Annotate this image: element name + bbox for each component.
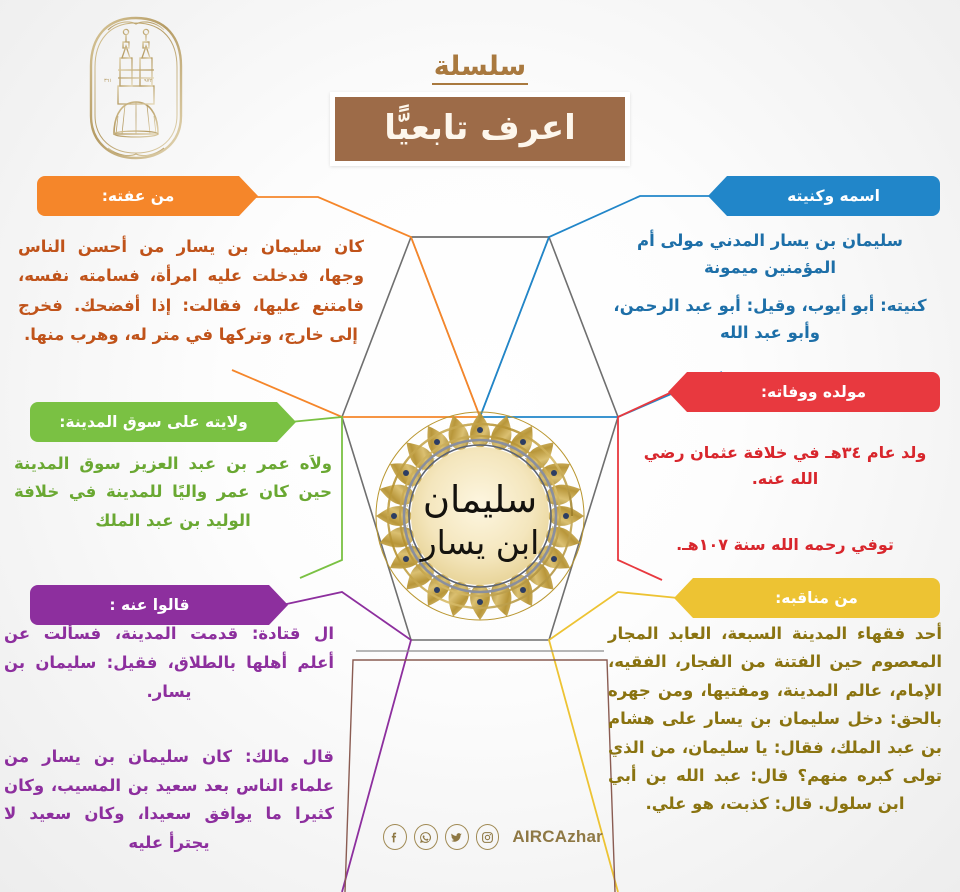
banner-tip-icon <box>277 402 296 442</box>
section-text-virtues: أحد فقهاء المدينة السبعة، العابد المجار … <box>608 620 942 819</box>
banner-tip-icon <box>668 372 687 412</box>
facebook-icon[interactable] <box>383 824 407 850</box>
whatsapp-icon[interactable] <box>414 824 438 850</box>
central-medallion: سليمان ابن يسار <box>372 408 588 624</box>
paragraph: ولد عام ٣٤هـ في خلافة عثمان رضي الله عنه… <box>630 440 940 492</box>
paragraph: ولاَه عمر بن عبد العزيز سوق المدينة حين … <box>14 450 332 535</box>
paragraph: توفي رحمه الله سنة ١٠٧هـ. <box>630 532 940 558</box>
banner-tip-icon <box>239 176 258 216</box>
section-banner-said-about-him[interactable]: قالوا عنه : <box>30 585 269 625</box>
title-block: سلسلة اعرف تابعيًّا <box>330 52 630 166</box>
section-text-name-and-kunya: سليمان بن يسار المدني مولى أم المؤمنين م… <box>600 228 940 347</box>
section-banner-birth-and-death[interactable]: مولده ووفاته: <box>687 372 940 412</box>
social-footer: AIRCAzhar <box>383 820 603 854</box>
al-azhar-logo: ٣٦١ ٩٧٢ <box>84 12 188 164</box>
medallion-name-line2: ابن يسار <box>419 523 540 562</box>
section-banner-chastity[interactable]: من عفته: <box>37 176 239 216</box>
banner-label: اسمه وكنيته <box>727 187 940 205</box>
banner-label: مولده ووفاته: <box>687 383 940 401</box>
section-banner-name-and-kunya[interactable]: اسمه وكنيته <box>727 176 940 216</box>
page-title-text: اعرف تابعيًّا <box>343 110 617 146</box>
paragraph: قال مالك: كان سليمان بن يسار من علماء ال… <box>4 743 334 859</box>
paragraph: ال قتادة: قدمت المدينة، فسألت عن أعلم أه… <box>4 620 334 707</box>
medallion-name-line1: سليمان <box>423 478 537 521</box>
infographic-canvas: ٣٦١ ٩٧٢ سلسلة اعرف تابعيًّا اسمه وكنيته … <box>0 0 960 892</box>
banner-label: قالوا عنه : <box>30 596 269 614</box>
section-banner-virtues[interactable]: من مناقبه: <box>693 578 940 618</box>
paragraph: سليمان بن يسار المدني مولى أم المؤمنين م… <box>600 228 940 281</box>
section-banner-market-governorship[interactable]: ولايته على سوق المدينة: <box>30 402 277 442</box>
paragraph: كان سليمان بن يسار من أحسن الناس وجها، ف… <box>18 232 364 349</box>
instagram-icon[interactable] <box>476 824 500 850</box>
section-text-chastity: كان سليمان بن يسار من أحسن الناس وجها، ف… <box>18 232 364 349</box>
page-title: اعرف تابعيًّا <box>330 92 630 166</box>
footer-bracket <box>345 660 615 892</box>
twitter-icon[interactable] <box>445 824 469 850</box>
social-handle: AIRCAzhar <box>512 827 603 847</box>
paragraph: أحد فقهاء المدينة السبعة، العابد المجار … <box>608 620 942 819</box>
banner-label: من عفته: <box>37 187 239 205</box>
banner-label: ولايته على سوق المدينة: <box>30 413 277 431</box>
center-triangle <box>411 237 549 417</box>
svg-text:٣٦١: ٣٦١ <box>104 78 112 84</box>
paragraph: كنيته: أبو أيوب، وقيل: أبو عبد الرحمن، و… <box>600 293 940 346</box>
section-text-market-governorship: ولاَه عمر بن عبد العزيز سوق المدينة حين … <box>14 450 332 535</box>
banner-tip-icon <box>269 585 288 625</box>
banner-tip-icon <box>674 578 693 618</box>
banner-tip-icon <box>708 176 727 216</box>
svg-text:٩٧٢: ٩٧٢ <box>144 78 152 84</box>
banner-label: من مناقبه: <box>693 589 940 607</box>
section-text-birth-and-death: ولد عام ٣٤هـ في خلافة عثمان رضي الله عنه… <box>630 440 940 558</box>
series-label: سلسلة <box>428 52 532 85</box>
section-text-said-about-him: ال قتادة: قدمت المدينة، فسألت عن أعلم أه… <box>4 620 334 858</box>
